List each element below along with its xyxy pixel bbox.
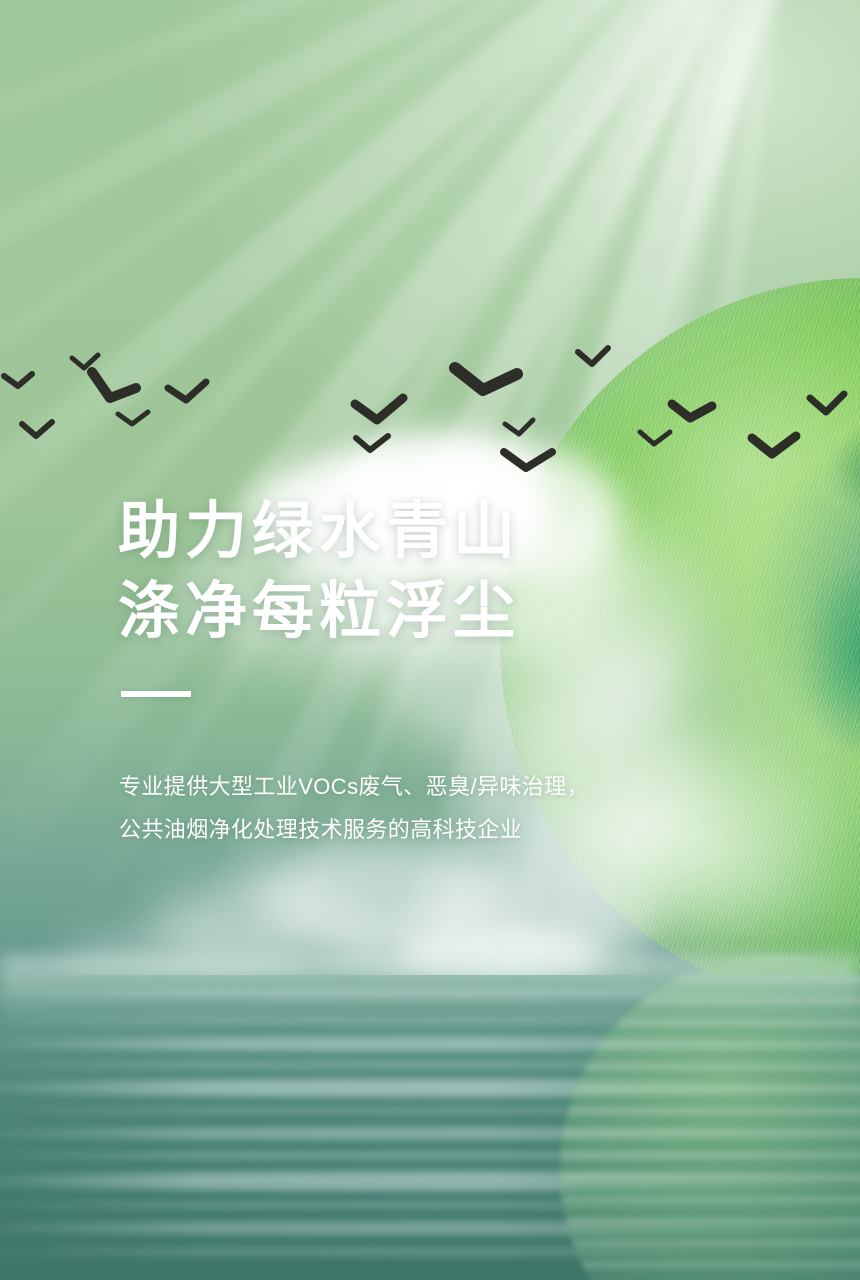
title-divider — [121, 691, 191, 697]
page-title: 助力绿水青山 涤净每粒浮尘 — [118, 492, 520, 652]
headline-line-2: 涤净每粒浮尘 — [118, 572, 520, 652]
subtitle-line-2: 公共油烟净化处理技术服务的高科技企业 — [119, 808, 589, 851]
hero-content: 助力绿水青山 涤净每粒浮尘 专业提供大型工业VOCs废气、恶臭/异味治理， 公共… — [0, 0, 860, 1280]
page-subtitle: 专业提供大型工业VOCs废气、恶臭/异味治理， 公共油烟净化处理技术服务的高科技… — [119, 765, 589, 851]
headline-line-1: 助力绿水青山 — [118, 492, 520, 572]
subtitle-line-1: 专业提供大型工业VOCs废气、恶臭/异味治理， — [119, 765, 589, 808]
poster-canvas: 助力绿水青山 涤净每粒浮尘 专业提供大型工业VOCs废气、恶臭/异味治理， 公共… — [0, 0, 860, 1280]
